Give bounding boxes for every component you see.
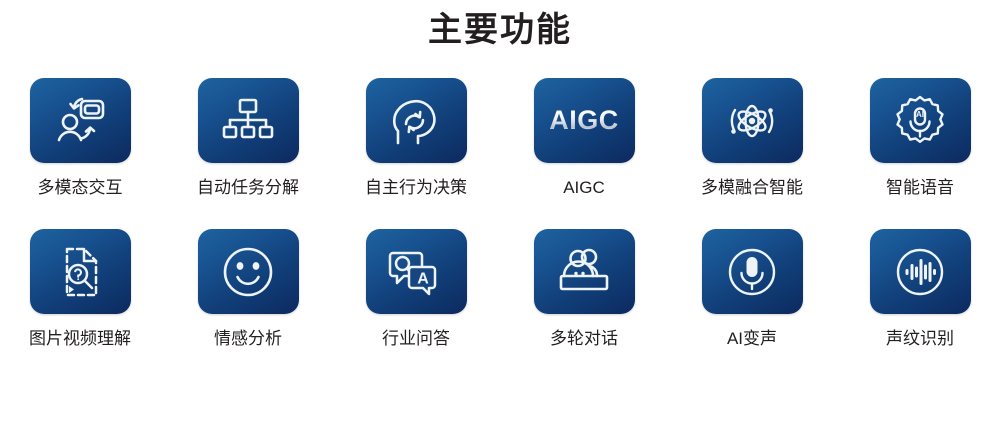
feature-tile[interactable] [198, 229, 299, 314]
document-magnifier-question-icon [56, 245, 104, 299]
feature-row-1: 多模态交互 自动任务分解 [0, 78, 1000, 199]
feature-label: 多轮对话 [550, 328, 618, 350]
feature-item-sentiment-analysis[interactable]: 情感分析 [198, 229, 299, 350]
feature-item-ai-voice-change[interactable]: AI变声 [702, 229, 803, 350]
qa-bubble-a-label: A [417, 270, 429, 287]
feature-item-multi-turn-dialogue[interactable]: 多轮对话 [534, 229, 635, 350]
atom-orbit-icon [724, 95, 780, 147]
feature-label: 多模态交互 [38, 177, 123, 199]
feature-row-2: 图片视频理解 情感分析 [0, 229, 1000, 350]
feature-label: 行业问答 [382, 328, 450, 350]
feature-item-smart-voice[interactable]: AI 智能语音 [870, 78, 971, 199]
page-title: 主要功能 [0, 0, 1000, 54]
head-refresh-cycle-icon [390, 95, 442, 147]
feature-item-multimodal-fusion[interactable]: 多模融合智能 [702, 78, 803, 199]
feature-label: 声纹识别 [886, 328, 954, 350]
feature-item-industry-qa[interactable]: A 行业问答 [366, 229, 467, 350]
feature-label: 智能语音 [886, 177, 954, 199]
feature-item-task-decomposition[interactable]: 自动任务分解 [198, 78, 299, 199]
gear-microphone-ai-icon: AI [893, 94, 947, 148]
feature-tile[interactable] [198, 78, 299, 163]
feature-tile[interactable] [366, 78, 467, 163]
feature-tile[interactable] [30, 229, 131, 314]
feature-tile[interactable] [702, 78, 803, 163]
feature-item-multimodal-interaction[interactable]: 多模态交互 [30, 78, 131, 199]
aigc-text-icon: AIGC [549, 107, 619, 134]
feature-tile[interactable] [30, 78, 131, 163]
feature-item-image-video-understanding[interactable]: 图片视频理解 [30, 229, 131, 350]
feature-item-aigc[interactable]: AIGC AIGC [534, 78, 635, 199]
user-screen-exchange-icon [52, 95, 108, 147]
feature-grid: 多模态交互 自动任务分解 [0, 54, 1000, 350]
feature-label: 图片视频理解 [29, 328, 131, 350]
org-tree-hierarchy-icon [222, 96, 274, 146]
gear-mic-ai-label: AI [916, 110, 924, 119]
feature-tile[interactable]: AI [870, 78, 971, 163]
feature-label: 情感分析 [214, 328, 282, 350]
feature-tile[interactable]: A [366, 229, 467, 314]
feature-label: AI变声 [727, 328, 777, 350]
voiceprint-waveform-circle-icon [893, 245, 947, 299]
feature-label: 自动任务分解 [197, 177, 299, 199]
feature-label: 自主行为决策 [365, 177, 467, 199]
qa-speech-bubbles-icon: A [388, 246, 444, 298]
feature-label: 多模融合智能 [701, 177, 803, 199]
feature-label: AIGC [563, 177, 605, 199]
feature-tile[interactable]: AIGC [534, 78, 635, 163]
feature-tile[interactable] [870, 229, 971, 314]
feature-item-autonomous-decision[interactable]: 自主行为决策 [366, 78, 467, 199]
two-people-table-icon [556, 247, 612, 297]
microphone-circle-icon [725, 245, 779, 299]
feature-tile[interactable] [702, 229, 803, 314]
smiley-face-icon [221, 245, 275, 299]
feature-item-voiceprint-recognition[interactable]: 声纹识别 [870, 229, 971, 350]
feature-tile[interactable] [534, 229, 635, 314]
